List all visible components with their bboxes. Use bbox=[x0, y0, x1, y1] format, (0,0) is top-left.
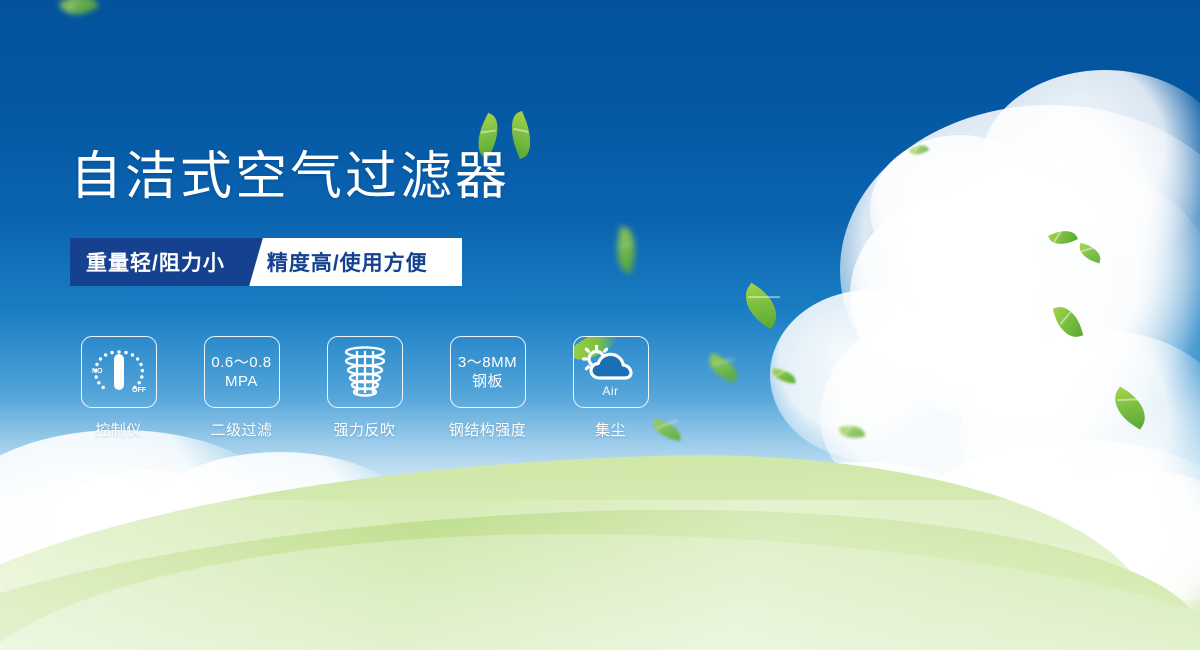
feature-item-dust-collection[interactable]: Air 集尘 bbox=[562, 336, 659, 440]
pressure-value: 0.6～0.8 bbox=[211, 353, 271, 372]
grass-light-sheen bbox=[0, 500, 1200, 650]
grass-hill-back bbox=[0, 442, 1153, 650]
feature-item-blowback[interactable]: 强力反吹 bbox=[316, 336, 413, 440]
subtitle-left-tag: 重量轻/阻力小 bbox=[70, 238, 243, 286]
feature-icon-box: Air bbox=[573, 336, 649, 408]
feature-icon-box: 3～8MM 钢板 bbox=[450, 336, 526, 408]
subtitle-bar: 重量轻/阻力小 精度高/使用方便 bbox=[70, 238, 462, 286]
feature-list: NO OFF 控制仪 0.6～0.8 MPA 二级过滤 bbox=[70, 336, 659, 440]
dial-on-label: NO bbox=[92, 368, 103, 375]
feature-item-control-dial[interactable]: NO OFF 控制仪 bbox=[70, 336, 167, 440]
feature-item-steel-plate[interactable]: 3～8MM 钢板 钢结构强度 bbox=[439, 336, 536, 440]
leaf-icon bbox=[1053, 303, 1084, 342]
cloud-puff bbox=[260, 490, 460, 620]
leaf-icon bbox=[1076, 243, 1103, 264]
leaf-icon bbox=[1106, 386, 1154, 429]
grass-hill-front bbox=[0, 521, 1200, 650]
feature-label: 强力反吹 bbox=[333, 419, 395, 440]
cloud-puff bbox=[700, 462, 1020, 637]
filter-cartridge-icon bbox=[339, 344, 391, 400]
leaf-icon bbox=[705, 353, 742, 383]
cloud-puff bbox=[820, 300, 1140, 530]
pressure-unit: MPA bbox=[225, 372, 258, 391]
cloud-puff bbox=[770, 290, 970, 460]
leaf-icon bbox=[839, 423, 865, 442]
subtitle-right-tag: 精度高/使用方便 bbox=[243, 238, 462, 286]
feature-item-pressure[interactable]: 0.6～0.8 MPA 二级过滤 bbox=[193, 336, 290, 440]
cloud-puff bbox=[40, 470, 260, 610]
leaf-icon bbox=[736, 283, 786, 330]
product-banner: 自洁式空气过滤器 重量轻/阻力小 精度高/使用方便 bbox=[0, 0, 1200, 650]
feature-icon-box: NO OFF bbox=[81, 336, 157, 408]
cloud-puff bbox=[0, 430, 300, 630]
feature-label: 控制仪 bbox=[95, 419, 142, 440]
control-dial-icon: NO OFF bbox=[88, 344, 150, 400]
leaf-icon bbox=[909, 141, 930, 159]
cloud-puff bbox=[840, 105, 1200, 435]
cloud-puff bbox=[960, 330, 1200, 550]
feature-label: 二级过滤 bbox=[210, 419, 272, 440]
leaf-icon bbox=[771, 368, 796, 383]
page-title: 自洁式空气过滤器 bbox=[70, 146, 510, 208]
grass-hill-mid bbox=[0, 486, 1200, 650]
air-label: Air bbox=[602, 382, 618, 401]
cloud-puff bbox=[870, 135, 1050, 285]
dial-off-label: OFF bbox=[132, 387, 147, 394]
cloud-puff bbox=[900, 440, 1200, 640]
cloud-puff bbox=[130, 452, 430, 627]
cloud-puff bbox=[890, 160, 1200, 440]
feature-label: 集尘 bbox=[595, 419, 626, 440]
steel-thickness: 3～8MM bbox=[458, 353, 517, 372]
leaf-icon bbox=[1048, 225, 1078, 249]
cloud-puff bbox=[520, 482, 800, 632]
feature-label: 钢结构强度 bbox=[449, 419, 527, 440]
steel-material: 钢板 bbox=[472, 372, 503, 391]
feature-icon-box: 0.6～0.8 MPA bbox=[204, 336, 280, 408]
cloud-puff bbox=[330, 470, 590, 625]
feature-icon-box bbox=[327, 336, 403, 408]
cloud-air-icon bbox=[582, 345, 640, 385]
cloud-puff bbox=[620, 500, 820, 625]
cloud-puff bbox=[980, 70, 1200, 260]
cloud-puff bbox=[850, 190, 1090, 400]
cloud-puff bbox=[1020, 470, 1200, 630]
leaf-icon bbox=[59, 0, 99, 23]
leaf-icon bbox=[612, 226, 641, 273]
